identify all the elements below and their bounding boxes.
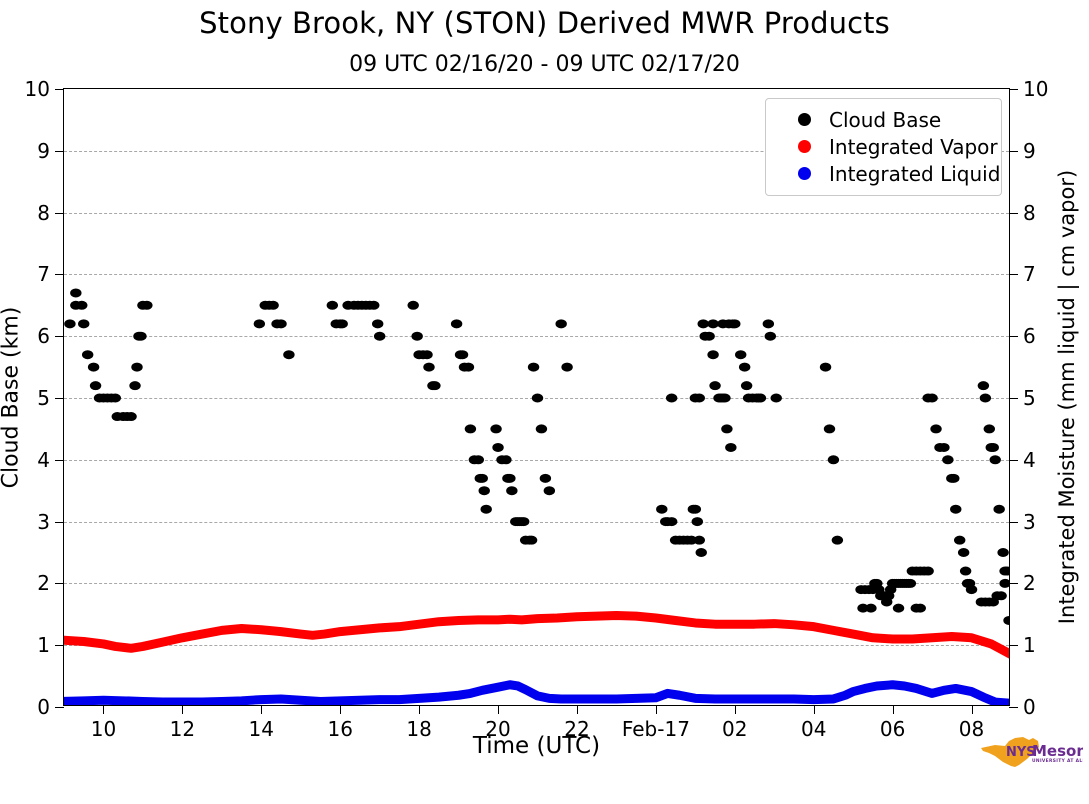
data-point — [82, 350, 93, 359]
data-point — [457, 350, 468, 359]
y-tick-label-right: 0 — [1023, 695, 1036, 719]
y-axis-left-title: Cloud Base (km) — [0, 88, 24, 706]
data-point — [135, 332, 146, 341]
series-integrated-liquid — [64, 685, 1009, 704]
y-tick-right — [1009, 645, 1018, 646]
data-point — [429, 381, 440, 390]
data-point — [984, 424, 995, 433]
x-tick-label: 14 — [249, 717, 274, 741]
data-point — [1003, 616, 1009, 625]
data-point — [336, 319, 347, 328]
data-point — [893, 604, 904, 613]
y-tick-left — [55, 707, 64, 708]
y-axis-right-title: Integrated Moisture (mm liquid | cm vapo… — [1052, 88, 1082, 706]
data-point — [492, 443, 503, 452]
data-point — [771, 394, 782, 403]
y-tick-label-right: 6 — [1023, 324, 1036, 348]
x-tick-label: 02 — [722, 717, 747, 741]
data-point — [408, 301, 419, 310]
data-point — [131, 363, 142, 372]
legend-item-integrated-vapor[interactable]: Integrated Vapor — [776, 133, 991, 160]
data-point — [725, 443, 736, 452]
data-point — [526, 536, 537, 545]
data-point — [64, 319, 75, 328]
data-point — [656, 505, 667, 514]
data-point — [490, 424, 501, 433]
data-point — [374, 332, 385, 341]
x-tick-label: 10 — [91, 717, 116, 741]
data-point — [141, 301, 152, 310]
x-tick-label: 18 — [406, 717, 431, 741]
data-point — [820, 363, 831, 372]
data-point — [275, 319, 286, 328]
data-point — [690, 505, 701, 514]
data-point — [915, 604, 926, 613]
data-point — [506, 486, 517, 495]
data-point — [692, 517, 703, 526]
data-point — [950, 505, 961, 514]
y-tick-left — [55, 89, 64, 90]
data-point — [703, 332, 714, 341]
data-point — [129, 381, 140, 390]
data-point — [666, 517, 677, 526]
data-point — [832, 536, 843, 545]
data-point — [267, 301, 278, 310]
y-tick-right — [1009, 460, 1018, 461]
data-point — [70, 288, 81, 297]
data-point — [997, 548, 1008, 557]
y-tick-left — [55, 213, 64, 214]
y-tick-label-right: 7 — [1023, 262, 1036, 286]
data-point — [978, 381, 989, 390]
x-tick — [261, 705, 262, 714]
x-tick-label: 16 — [327, 717, 352, 741]
data-point — [78, 319, 89, 328]
data-point — [477, 474, 488, 483]
x-tick — [814, 705, 815, 714]
y-tick-right — [1009, 89, 1018, 90]
data-point — [942, 455, 953, 464]
data-point — [990, 455, 1001, 464]
y-tick-left — [55, 274, 64, 275]
data-point — [423, 363, 434, 372]
data-point — [707, 319, 718, 328]
y-tick-left — [55, 460, 64, 461]
y-tick-label-right: 2 — [1023, 571, 1036, 595]
data-point — [421, 350, 432, 359]
y-tick-right — [1009, 274, 1018, 275]
legend-marker-icon — [798, 140, 811, 153]
data-point — [828, 455, 839, 464]
data-point — [372, 319, 383, 328]
y-tick-right — [1009, 583, 1018, 584]
data-point — [561, 363, 572, 372]
data-point — [666, 394, 677, 403]
data-point — [555, 319, 566, 328]
x-tick-label: 20 — [485, 717, 510, 741]
data-point — [88, 363, 99, 372]
data-point — [922, 567, 933, 576]
data-point — [540, 474, 551, 483]
data-point — [500, 455, 511, 464]
data-point — [465, 424, 476, 433]
legend-marker-icon — [798, 167, 811, 180]
y-tick-right — [1009, 707, 1018, 708]
logo-university-text: UNIVERSITY AT ALBANY — [1032, 758, 1083, 764]
data-point — [995, 591, 1006, 600]
data-point — [755, 394, 766, 403]
x-tick — [182, 705, 183, 714]
data-point — [694, 536, 705, 545]
data-point — [719, 394, 730, 403]
data-point — [536, 424, 547, 433]
y-axis-right-title-text: Integrated Moisture (mm liquid | cm vapo… — [1055, 170, 1079, 624]
x-tick — [340, 705, 341, 714]
data-point — [729, 319, 740, 328]
legend-label: Integrated Liquid — [829, 162, 1000, 186]
legend-marker-icon — [798, 113, 811, 126]
data-point — [518, 517, 529, 526]
data-point — [865, 604, 876, 613]
x-tick — [577, 705, 578, 714]
chart-subtitle: 09 UTC 02/16/20 - 09 UTC 02/17/20 — [0, 52, 1089, 77]
y-tick-left — [55, 583, 64, 584]
y-axis-left-title-text: Cloud Base (km) — [0, 306, 24, 488]
data-point — [905, 579, 916, 588]
y-tick-label-left: 3 — [37, 510, 50, 534]
data-point — [698, 319, 709, 328]
data-point — [283, 350, 294, 359]
y-tick-left — [55, 398, 64, 399]
series-line — [64, 616, 1009, 655]
data-point — [368, 301, 379, 310]
data-point — [735, 350, 746, 359]
y-tick-label-left: 6 — [37, 324, 50, 348]
y-tick-label-right: 1 — [1023, 633, 1036, 657]
x-tick-label: Feb-17 — [622, 717, 690, 741]
data-point — [999, 579, 1009, 588]
y-tick-label-left: 8 — [37, 201, 50, 225]
data-point — [532, 394, 543, 403]
data-point — [980, 394, 991, 403]
x-tick — [893, 705, 894, 714]
data-point — [463, 363, 474, 372]
data-point — [741, 381, 752, 390]
data-point — [707, 350, 718, 359]
y-tick-label-left: 2 — [37, 571, 50, 595]
chart-legend: Cloud BaseIntegrated VaporIntegrated Liq… — [765, 98, 1002, 196]
y-tick-label-right: 4 — [1023, 448, 1036, 472]
data-point — [938, 443, 949, 452]
data-point — [709, 381, 720, 390]
y-tick-label-left: 0 — [37, 695, 50, 719]
y-tick-label-left: 5 — [37, 386, 50, 410]
data-point — [694, 394, 705, 403]
x-tick-label: 06 — [880, 717, 905, 741]
data-point — [926, 394, 937, 403]
y-tick-label-right: 10 — [1023, 77, 1048, 101]
data-point — [948, 474, 959, 483]
series-integrated-vapor — [64, 616, 1009, 655]
y-tick-right — [1009, 336, 1018, 337]
x-tick — [972, 705, 973, 714]
data-point — [739, 363, 750, 372]
y-tick-left — [55, 522, 64, 523]
data-point — [327, 301, 338, 310]
nys-mesonet-logo: NYS Mesonet UNIVERSITY AT ALBANY — [975, 735, 1083, 775]
y-tick-right — [1009, 151, 1018, 152]
data-point — [473, 455, 484, 464]
y-tick-label-left: 10 — [25, 77, 50, 101]
y-tick-label-right: 8 — [1023, 201, 1036, 225]
legend-item-cloud-base[interactable]: Cloud Base — [776, 106, 991, 133]
data-point — [988, 443, 999, 452]
x-tick — [735, 705, 736, 714]
x-tick-label: 04 — [801, 717, 826, 741]
y-tick-label-right: 5 — [1023, 386, 1036, 410]
data-point — [110, 394, 121, 403]
data-point — [528, 363, 539, 372]
data-point — [411, 332, 422, 341]
data-point — [254, 319, 265, 328]
data-point — [544, 486, 555, 495]
data-point — [966, 585, 977, 594]
data-point — [504, 474, 515, 483]
data-point — [824, 424, 835, 433]
x-tick-label: 12 — [170, 717, 195, 741]
y-tick-left — [55, 645, 64, 646]
y-tick-label-right: 9 — [1023, 139, 1036, 163]
x-tick-label: 22 — [564, 717, 589, 741]
y-tick-label-left: 9 — [37, 139, 50, 163]
x-tick — [419, 705, 420, 714]
x-tick — [103, 705, 104, 714]
data-point — [721, 424, 732, 433]
y-tick-label-left: 1 — [37, 633, 50, 657]
data-point — [90, 381, 101, 390]
data-point — [954, 536, 965, 545]
legend-label: Integrated Vapor — [829, 135, 998, 159]
legend-label: Cloud Base — [829, 108, 941, 132]
data-point — [993, 505, 1004, 514]
series-cloud-base — [64, 288, 1009, 625]
y-tick-label-right: 3 — [1023, 510, 1036, 534]
data-point — [763, 319, 774, 328]
y-tick-right — [1009, 522, 1018, 523]
x-axis-title: Time (UTC) — [63, 733, 1010, 759]
data-point — [76, 301, 87, 310]
y-tick-right — [1009, 213, 1018, 214]
data-point — [696, 548, 707, 557]
y-tick-label-left: 7 — [37, 262, 50, 286]
data-point — [125, 412, 136, 421]
data-point — [481, 505, 492, 514]
x-tick — [656, 705, 657, 714]
y-tick-left — [55, 151, 64, 152]
series-line — [64, 685, 1009, 704]
data-point — [960, 567, 971, 576]
y-tick-label-left: 4 — [37, 448, 50, 472]
data-point — [930, 424, 941, 433]
x-tick — [498, 705, 499, 714]
data-point — [765, 332, 776, 341]
logo-mesonet-text: Mesonet — [1032, 742, 1083, 760]
data-point — [451, 319, 462, 328]
data-point — [958, 548, 969, 557]
data-point — [479, 486, 490, 495]
legend-item-integrated-liquid[interactable]: Integrated Liquid — [776, 160, 991, 187]
y-tick-right — [1009, 398, 1018, 399]
y-tick-left — [55, 336, 64, 337]
page-title: Stony Brook, NY (STON) Derived MWR Produ… — [0, 6, 1089, 40]
